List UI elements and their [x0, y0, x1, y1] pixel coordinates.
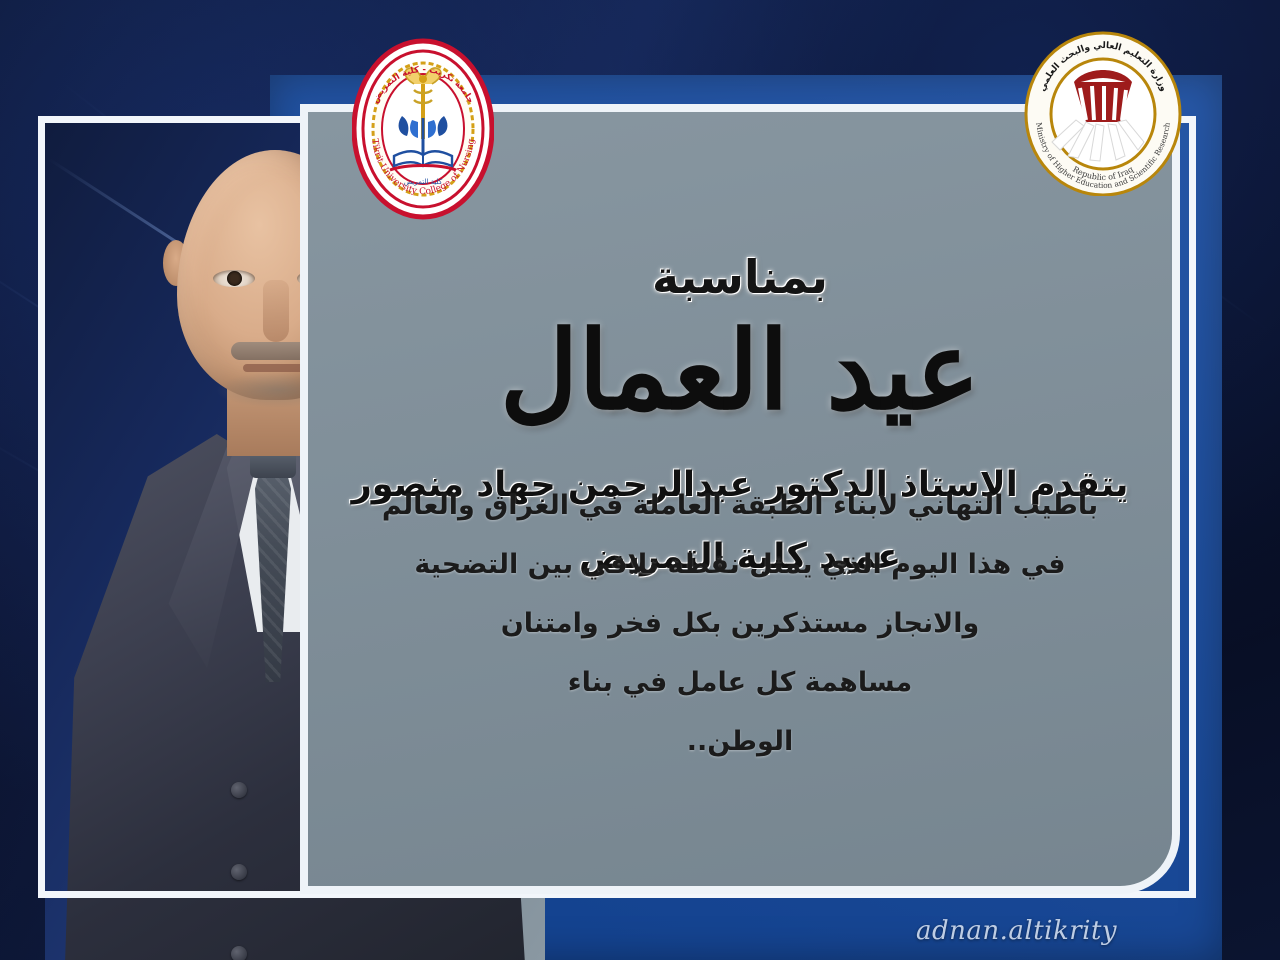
body-line: في هذا اليوم الذي يمثل نقطة تلاقي بين ال…: [300, 549, 1180, 580]
body-line: والانجاز مستذكرين بكل فخر وامتنان: [300, 608, 1180, 639]
body-line: بأطيب التهاني لابناء الطبقة العاملة في ا…: [300, 490, 1180, 521]
tikrit-university-nursing-logo-icon: كلية التمريض جامعة تكريت - كلية التمريض …: [352, 34, 494, 224]
iraq-ministry-higher-education-logo-icon: وزارة التعليم العالي والبحث العلمي Repub…: [1024, 30, 1182, 196]
closing-greeting: وكل عام وانتم بخير: [308, 892, 1172, 894]
occasion-prefix: بمناسبة: [308, 250, 1172, 304]
body-line: مساهمة كل عامل في بناء: [300, 667, 1180, 698]
body-line: الوطن..: [300, 726, 1180, 757]
watermark: adnan.altikrity: [916, 916, 1117, 946]
occasion-title: عيد العمال: [308, 304, 1172, 439]
greeting-body: بأطيب التهاني لابناء الطبقة العاملة في ا…: [300, 490, 1180, 785]
jacket-button: [231, 946, 247, 960]
poster-canvas: بمناسبة عيد العمال يتقدم الاستاذ الدكتور…: [0, 0, 1280, 960]
